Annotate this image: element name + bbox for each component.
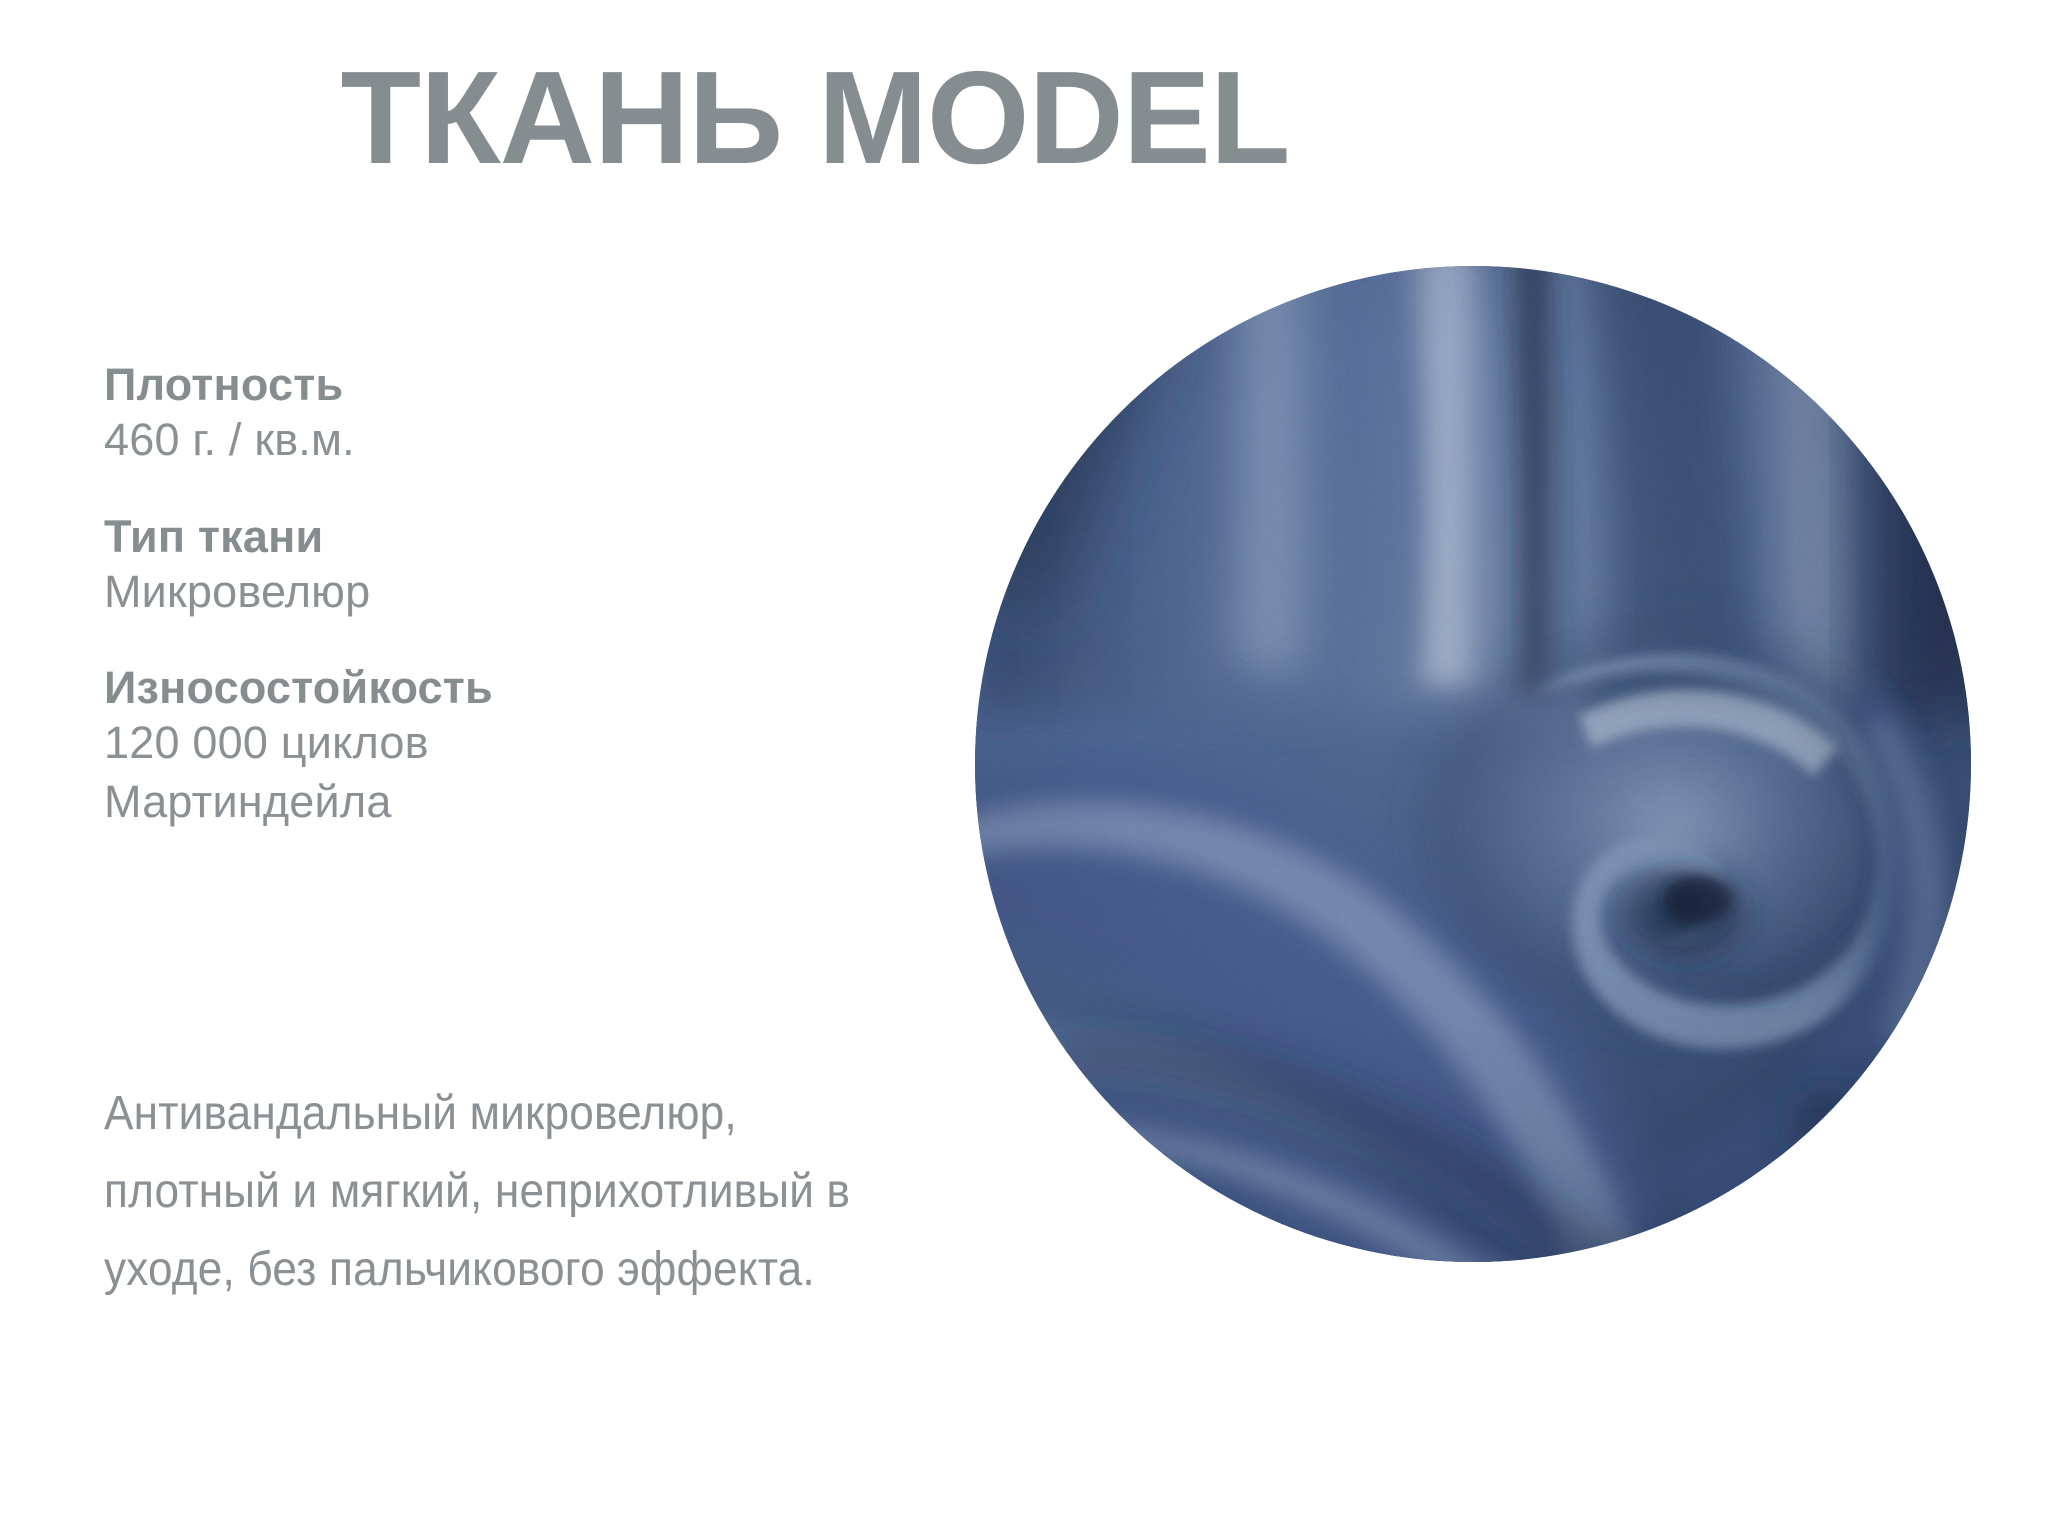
spec-item-density: Плотность 460 г. / кв.м. (104, 358, 904, 470)
fabric-swatch-circle (975, 266, 1971, 1262)
spec-value: 460 г. / кв.м. (104, 411, 904, 470)
spec-label: Износостойкость (104, 661, 904, 714)
specs-list: Плотность 460 г. / кв.м. Тип ткани Микро… (104, 358, 904, 831)
spec-item-abrasion-resistance: Износостойкость 120 000 циклов Мартиндей… (104, 661, 904, 831)
spec-value: Микровелюр (104, 563, 904, 622)
description-text: Антивандальный микровелюр, плотный и мяг… (104, 1075, 914, 1308)
spec-value: 120 000 циклов Мартиндейла (104, 714, 904, 831)
spec-label: Тип ткани (104, 510, 904, 563)
slide-canvas: ТКАНЬ MODEL Плотность 460 г. / кв.м. Тип… (0, 0, 2048, 1536)
spec-label: Плотность (104, 358, 904, 411)
fabric-image (975, 266, 1971, 1262)
page-title: ТКАНЬ MODEL (0, 52, 1630, 184)
spec-item-fabric-type: Тип ткани Микровелюр (104, 510, 904, 622)
